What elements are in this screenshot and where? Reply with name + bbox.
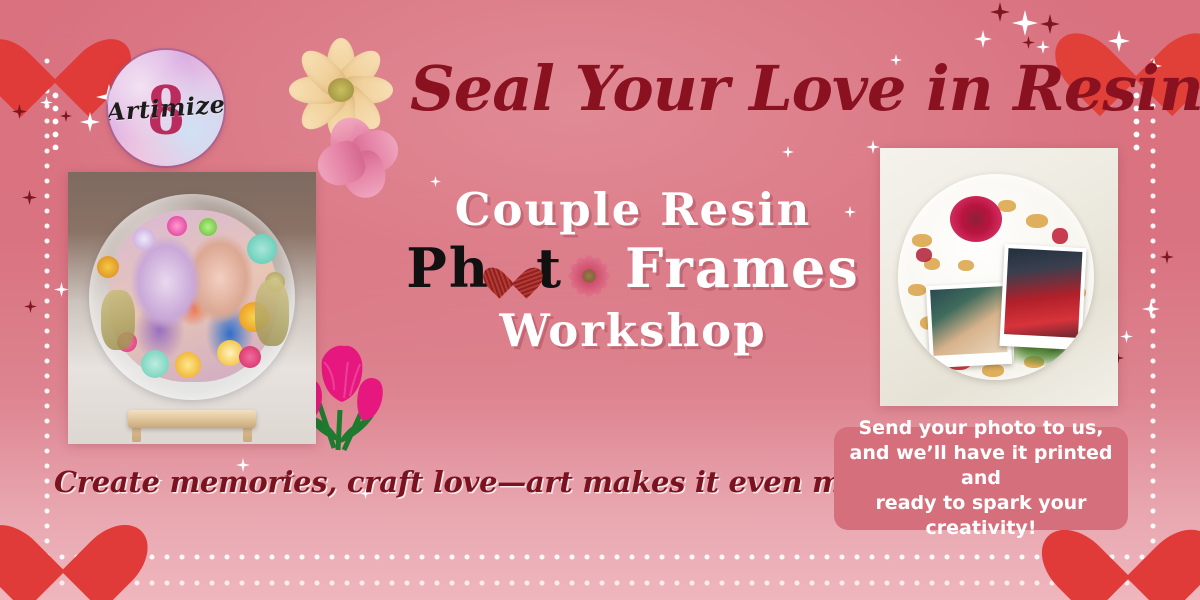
sparkle-icon	[1022, 36, 1035, 49]
pressed-flower-deco	[239, 346, 261, 368]
logo-wordmark: Artimize	[108, 89, 224, 126]
pressed-flower-deco	[175, 352, 201, 378]
sparkle-icon	[782, 146, 794, 158]
dotted-border-bottom	[44, 554, 1156, 560]
dried-red-petal	[916, 248, 932, 262]
heart-icon-letter-o	[493, 254, 533, 290]
polaroid-photo	[926, 282, 1012, 368]
sparkle-icon	[990, 2, 1010, 22]
heart-icon-bottom-left	[8, 486, 118, 590]
gold-flake	[912, 234, 932, 247]
headline-line-3: Workshop	[398, 307, 868, 355]
right-photo-resin-tray	[880, 148, 1118, 406]
sparkle-icon	[1120, 330, 1133, 343]
note-box: Send your photo to us, and we’ll have it…	[834, 427, 1128, 530]
headline-block: Couple Resin Ph t Frames Works	[398, 186, 868, 355]
pressed-flower-deco	[247, 234, 277, 264]
sparkle-icon	[1012, 10, 1038, 36]
resin-disc	[89, 194, 295, 400]
headline-ph: Ph	[406, 240, 490, 297]
headline-frames: Frames	[625, 240, 860, 297]
pressed-flower-deco	[167, 216, 187, 236]
headline-t: t	[536, 240, 563, 297]
sparkle-icon	[60, 110, 72, 122]
gold-flake	[908, 284, 926, 296]
polaroid-photo	[999, 244, 1086, 350]
dotted-border-left	[44, 58, 50, 558]
left-photo-resin-frame	[68, 172, 316, 444]
flower-icon-letter-o	[567, 254, 611, 298]
resin-tray	[898, 174, 1094, 380]
sparkle-icon	[1160, 250, 1174, 264]
dried-rose	[950, 196, 1002, 242]
gold-flake	[1026, 214, 1048, 228]
gold-flake	[958, 260, 974, 271]
pressed-flower-deco	[133, 228, 155, 250]
heart-icon-top-left	[6, 4, 104, 98]
pressed-fern-deco	[101, 290, 135, 350]
headline-line-2: Ph t Frames	[398, 240, 868, 297]
pressed-flower-deco	[199, 218, 217, 236]
sparkle-icon	[974, 30, 992, 48]
pressed-flower-deco	[97, 256, 119, 278]
headline-line-1: Couple Resin	[398, 186, 868, 234]
sparkle-icon	[80, 112, 100, 132]
wooden-easel	[128, 410, 256, 428]
heart-string-top-left	[52, 92, 59, 150]
brand-logo[interactable]: 8 Artimize	[108, 50, 224, 166]
gold-flake	[998, 200, 1016, 212]
gold-flake	[982, 364, 1004, 377]
dried-red-petal	[1052, 228, 1068, 244]
sparkle-icon	[54, 282, 69, 297]
pressed-hydrangea-flower-icon	[310, 112, 406, 208]
dotted-border-bottom-secondary	[44, 580, 1156, 586]
note-text: Send your photo to us, and we’ll have it…	[834, 416, 1128, 541]
sparkle-icon	[24, 300, 37, 313]
pressed-fern-deco	[255, 280, 289, 346]
sparkle-icon	[1040, 14, 1060, 34]
pressed-flower-deco	[141, 350, 169, 378]
poster-canvas: 8 Artimize	[0, 0, 1200, 600]
sparkle-icon	[1142, 300, 1160, 318]
sparkle-icon	[866, 140, 880, 154]
page-title: Seal Your Love in Resin!	[410, 58, 1110, 120]
sparkle-icon	[22, 190, 37, 205]
